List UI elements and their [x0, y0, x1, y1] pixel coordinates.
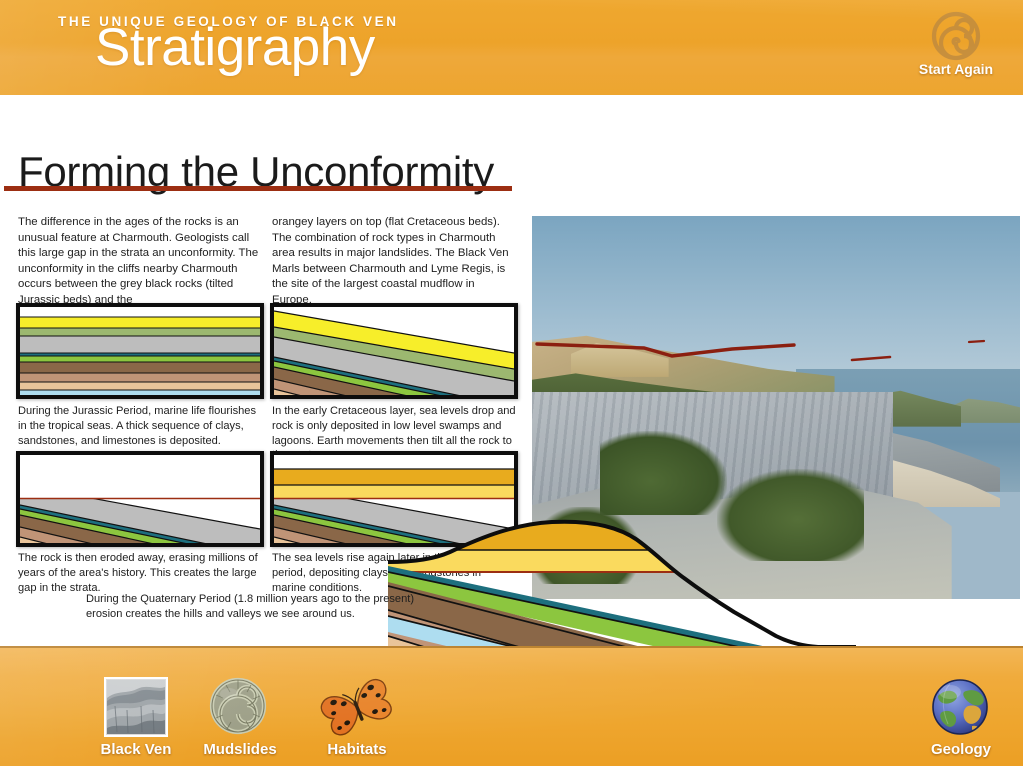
start-again-button[interactable]: Start Again: [901, 8, 1011, 77]
diagram-stage-3-caption: The rock is then eroded away, erasing mi…: [18, 551, 264, 595]
hill-strata: [388, 516, 856, 648]
diagram-stage-3: [16, 451, 264, 547]
nav-item-habitats[interactable]: Habitats: [303, 676, 411, 758]
nav-label-black-ven: Black Ven: [82, 741, 190, 758]
start-again-label: Start Again: [901, 61, 1011, 77]
nav-item-mudslides[interactable]: Mudslides: [186, 676, 294, 758]
title-underline: [4, 186, 512, 191]
ammonite-spiral-icon: [925, 8, 987, 64]
quaternary-caption: During the Quaternary Period (1.8 millio…: [86, 592, 416, 622]
ammonite-fossil-icon: [207, 676, 273, 738]
nav-label-geology: Geology: [907, 741, 1015, 758]
butterfly-icon: [317, 676, 397, 738]
diagram-stage-1: [16, 303, 264, 399]
nav-item-geology[interactable]: Geology: [907, 676, 1015, 758]
intro-column-2: orangey layers on top (flat Cretaceous b…: [272, 215, 516, 308]
cliff-photo-icon: [103, 676, 169, 738]
quaternary-hill-cross-section: [388, 516, 856, 648]
strata-flat: [20, 307, 260, 395]
nav-label-habitats: Habitats: [303, 741, 411, 758]
strata-tilted: [274, 307, 514, 395]
intro-column-1: The difference in the ages of the rocks …: [18, 215, 262, 308]
nav-label-mudslides: Mudslides: [186, 741, 294, 758]
diagram-stage-2: [270, 303, 518, 399]
nav-item-black-ven[interactable]: Black Ven: [82, 676, 190, 758]
footer-nav: Black Ven Mudslides: [0, 646, 1023, 766]
footer-divider: [0, 646, 1023, 648]
diagram-stage-1-caption: During the Jurassic Period, marine life …: [18, 404, 264, 448]
page-title: Stratigraphy: [95, 21, 375, 74]
strata-eroded: [20, 455, 260, 543]
globe-icon: [928, 676, 994, 738]
app-header: THE UNIQUE GEOLOGY OF BLACK VEN Stratigr…: [0, 0, 1023, 95]
